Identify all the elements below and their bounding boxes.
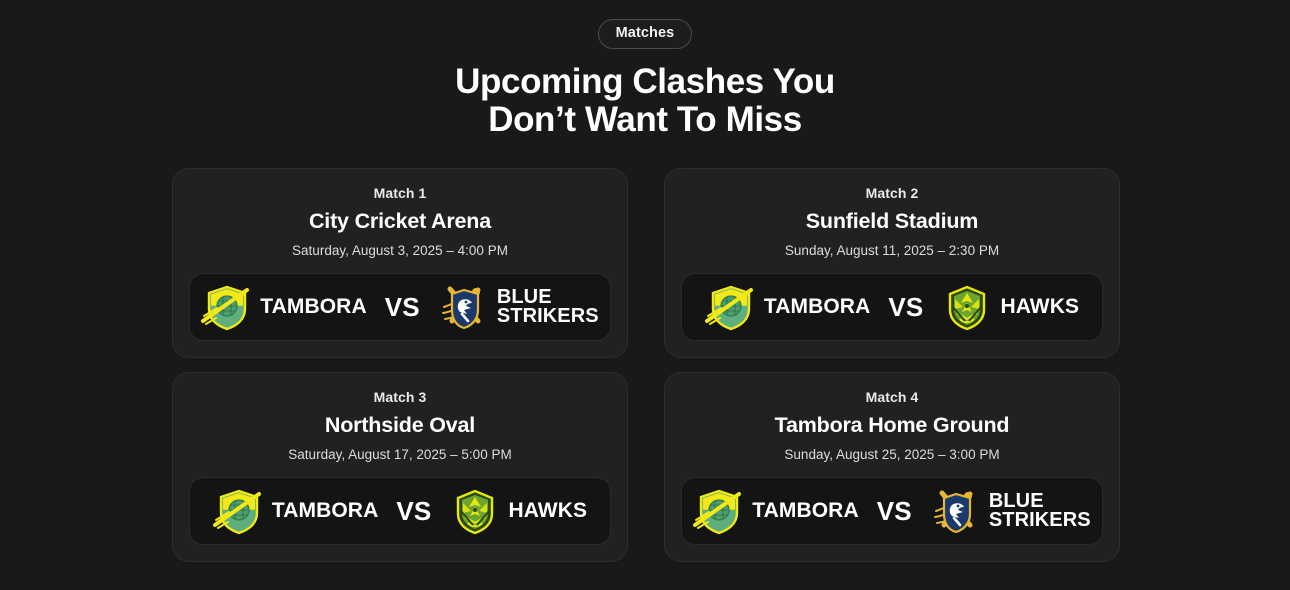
away-team: HAWKS — [941, 281, 1079, 333]
away-team: BLUE STRIKERS — [438, 281, 599, 333]
match-datetime: Saturday, August 3, 2025 – 4:00 PM — [292, 244, 508, 258]
page-title: Upcoming Clashes You Don’t Want To Miss — [0, 63, 1290, 139]
match-card[interactable]: Match 2 Sunfield Stadium Sunday, August … — [664, 168, 1120, 358]
vs-separator: VS — [877, 498, 912, 524]
match-teams-panel: TAMBORA VS — [681, 273, 1103, 341]
match-venue: City Cricket Arena — [309, 211, 491, 233]
hawks-shield-logo — [941, 281, 993, 333]
away-team-name: HAWKS — [1000, 297, 1079, 317]
page-title-line-2: Don’t Want To Miss — [0, 101, 1290, 139]
blue-strikers-shield-logo — [438, 281, 490, 333]
page-title-line-1: Upcoming Clashes You — [0, 63, 1290, 101]
match-datetime: Sunday, August 11, 2025 – 2:30 PM — [785, 244, 999, 258]
match-teams-panel: TAMBORA VS — [189, 477, 611, 545]
match-teams-panel: TAMBORA VS — [189, 273, 611, 341]
away-team-name: BLUE STRIKERS — [989, 492, 1091, 531]
home-team-name: TAMBORA — [260, 297, 366, 317]
away-team-name: HAWKS — [508, 501, 587, 521]
tambora-shield-logo — [213, 485, 265, 537]
away-team: HAWKS — [449, 485, 587, 537]
tambora-shield-logo — [693, 485, 745, 537]
away-team: BLUE STRIKERS — [930, 485, 1091, 537]
section-badge: Matches — [598, 19, 693, 49]
match-card[interactable]: Match 3 Northside Oval Saturday, August … — [172, 372, 628, 562]
matches-grid: Match 1 City Cricket Arena Saturday, Aug… — [172, 168, 1120, 562]
blue-strikers-shield-logo — [930, 485, 982, 537]
vs-separator: VS — [385, 294, 420, 320]
tambora-shield-logo — [201, 281, 253, 333]
match-card[interactable]: Match 1 City Cricket Arena Saturday, Aug… — [172, 168, 628, 358]
matches-page: Matches Upcoming Clashes You Don’t Want … — [0, 0, 1290, 590]
home-team-name: TAMBORA — [752, 501, 858, 521]
home-team: TAMBORA — [693, 485, 858, 537]
hawks-shield-logo — [449, 485, 501, 537]
match-label: Match 1 — [374, 186, 427, 200]
vs-separator: VS — [888, 294, 923, 320]
match-datetime: Saturday, August 17, 2025 – 5:00 PM — [288, 448, 511, 462]
home-team-name: TAMBORA — [272, 501, 378, 521]
match-label: Match 2 — [866, 186, 919, 200]
match-label: Match 4 — [866, 390, 919, 404]
match-datetime: Sunday, August 25, 2025 – 3:00 PM — [784, 448, 999, 462]
page-header: Matches Upcoming Clashes You Don’t Want … — [0, 0, 1290, 139]
tambora-shield-logo — [705, 281, 757, 333]
match-venue: Northside Oval — [325, 415, 475, 437]
home-team: TAMBORA — [705, 281, 870, 333]
match-label: Match 3 — [374, 390, 427, 404]
match-teams-panel: TAMBORA VS — [681, 477, 1103, 545]
match-card[interactable]: Match 4 Tambora Home Ground Sunday, Augu… — [664, 372, 1120, 562]
away-team-name: BLUE STRIKERS — [497, 288, 599, 327]
home-team-name: TAMBORA — [764, 297, 870, 317]
home-team: TAMBORA — [213, 485, 378, 537]
home-team: TAMBORA — [201, 281, 366, 333]
match-venue: Sunfield Stadium — [806, 211, 978, 233]
vs-separator: VS — [396, 498, 431, 524]
match-venue: Tambora Home Ground — [775, 415, 1010, 437]
